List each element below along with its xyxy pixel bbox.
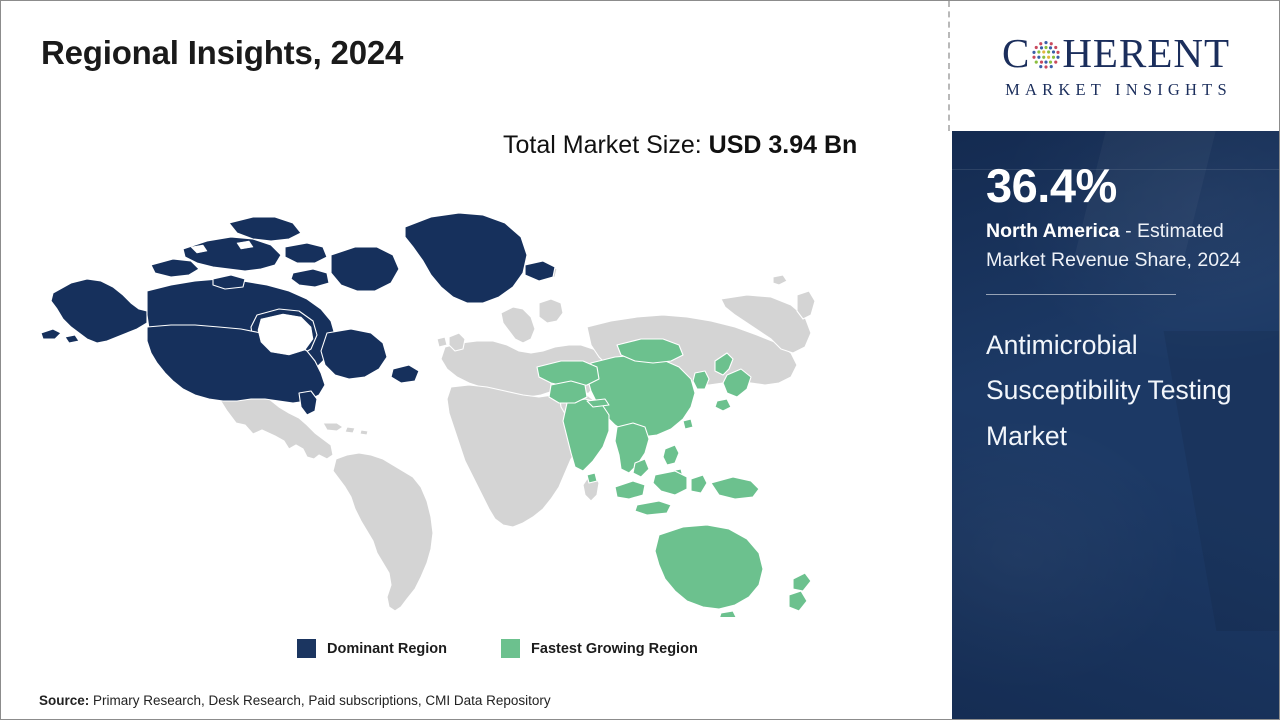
legend-item-fastest: Fastest Growing Region	[501, 639, 698, 658]
panel-content: 36.4% North America - Estimated Market R…	[952, 161, 1280, 460]
stat-value: 36.4%	[986, 161, 1246, 210]
legend-swatch-dominant	[297, 639, 316, 658]
legend-label-dominant: Dominant Region	[327, 641, 447, 657]
logo-subtitle: MARKET INSIGHTS	[1000, 80, 1232, 100]
page-title: Regional Insights, 2024	[41, 34, 403, 72]
market-size-label: Total Market Size:	[503, 131, 709, 159]
company-logo: C	[952, 1, 1280, 131]
stat-region: North America	[986, 220, 1120, 242]
logo-word-herent: HERENT	[1062, 33, 1230, 74]
legend-swatch-fastest	[501, 639, 520, 658]
slide-root: Regional Insights, 2024 Total Market Siz…	[0, 0, 1280, 720]
source-text: Primary Research, Desk Research, Paid su…	[89, 693, 550, 708]
logo-letter-c: C	[1002, 33, 1030, 74]
vertical-dashed-divider	[948, 1, 950, 131]
panel-divider-rule	[986, 294, 1176, 295]
source-note: Source: Primary Research, Desk Research,…	[39, 693, 551, 708]
legend-item-dominant: Dominant Region	[297, 639, 447, 658]
info-panel: 36.4% North America - Estimated Market R…	[952, 131, 1280, 719]
market-size-value: USD 3.94 Bn	[709, 131, 858, 159]
source-label: Source:	[39, 693, 89, 708]
globe-dots-icon	[1031, 40, 1061, 70]
market-title: Antimicrobial Susceptibility Testing Mar…	[986, 323, 1246, 460]
logo-wordmark: C	[1002, 33, 1230, 74]
map-legend: Dominant Region Fastest Growing Region	[297, 639, 698, 658]
total-market-size: Total Market Size: USD 3.94 Bn	[503, 126, 893, 165]
legend-label-fastest: Fastest Growing Region	[531, 641, 698, 657]
stat-description: North America - Estimated Market Revenue…	[986, 217, 1246, 274]
world-map	[31, 187, 831, 617]
